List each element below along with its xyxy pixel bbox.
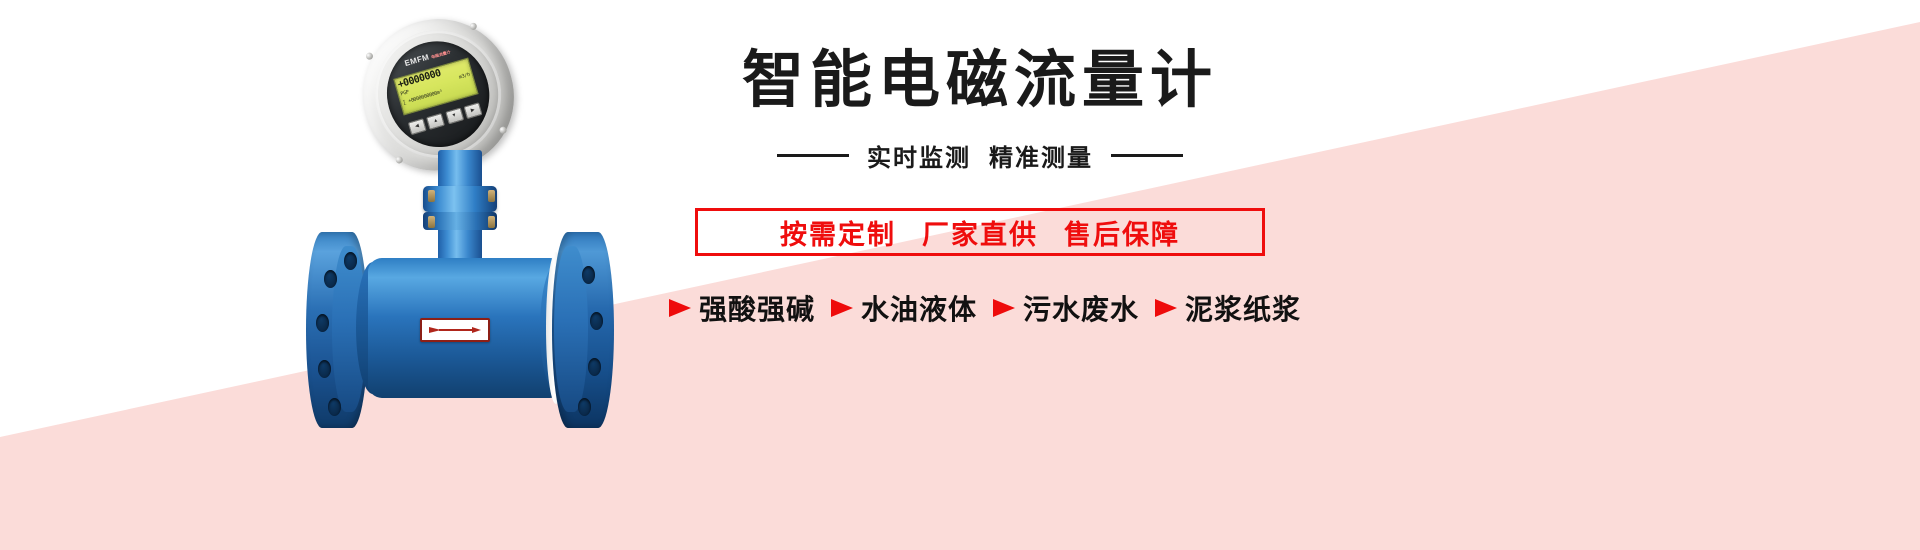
feature-label: 强酸强碱 [699,288,815,328]
horizontal-rule-icon-right [1111,154,1183,157]
subtitle-right-text: 精准测量 [989,138,1093,173]
bolt-hole [328,398,341,416]
triangle-right-icon [993,299,1015,317]
triangle-right-icon [1155,299,1177,317]
brand-text: EMFM [404,52,431,68]
product-banner: EMFM电磁流量计 +0000000 PGP m3/h ∑ +000000000… [0,0,1920,550]
triangle-right-icon [669,299,691,317]
feature-label: 污水废水 [1023,288,1139,328]
promo-item-3: 售后保障 [1064,213,1180,252]
key-up-icon[interactable]: ▲ [426,113,445,130]
bolt-hole [344,252,357,270]
feature-item: 泥浆纸浆 [1155,288,1301,328]
bolt-hole [578,398,591,416]
banner-subtitle: 实时监测 精准测量 [600,138,1360,173]
bolt-hole [318,360,331,378]
neck-bolt [488,190,495,202]
promo-callout-box: 按需定制 厂家直供 售后保障 [695,208,1265,256]
key-right-icon[interactable]: ▶ [464,102,483,119]
horizontal-rule-icon-left [777,154,849,157]
promo-item-1: 按需定制 [780,213,896,252]
feature-label: 水油液体 [861,288,977,328]
flow-direction-label [420,318,490,342]
feature-item: 强酸强碱 [669,288,815,328]
feature-list: 强酸强碱 水油液体 污水废水 泥浆纸浆 [590,288,1380,328]
bolt-hole [316,314,329,332]
bolt-hole [324,270,337,288]
key-left-icon[interactable]: ◀ [408,118,427,135]
neck-bolt [428,190,435,202]
subtitle-left-text: 实时监测 [867,138,971,173]
flow-arrow-tip [472,327,481,333]
triangle-right-icon [831,299,853,317]
neck-bolt [488,216,495,228]
feature-label: 泥浆纸浆 [1185,288,1301,328]
flow-direction-arrow-icon [429,326,481,335]
bolt-hole [582,266,595,284]
feature-item: 水油液体 [831,288,977,328]
neck-bolt [428,216,435,228]
banner-headline: 智能电磁流量计 [600,50,1360,112]
brand-subtext: 电磁流量计 [431,49,452,59]
feature-item: 污水废水 [993,288,1139,328]
key-down-icon[interactable]: ▼ [445,108,464,125]
promo-item-2: 厂家直供 [922,213,1038,252]
banner-content: 智能电磁流量计 实时监测 精准测量 按需定制 厂家直供 售后保障 强酸强碱 水油… [600,0,1360,550]
